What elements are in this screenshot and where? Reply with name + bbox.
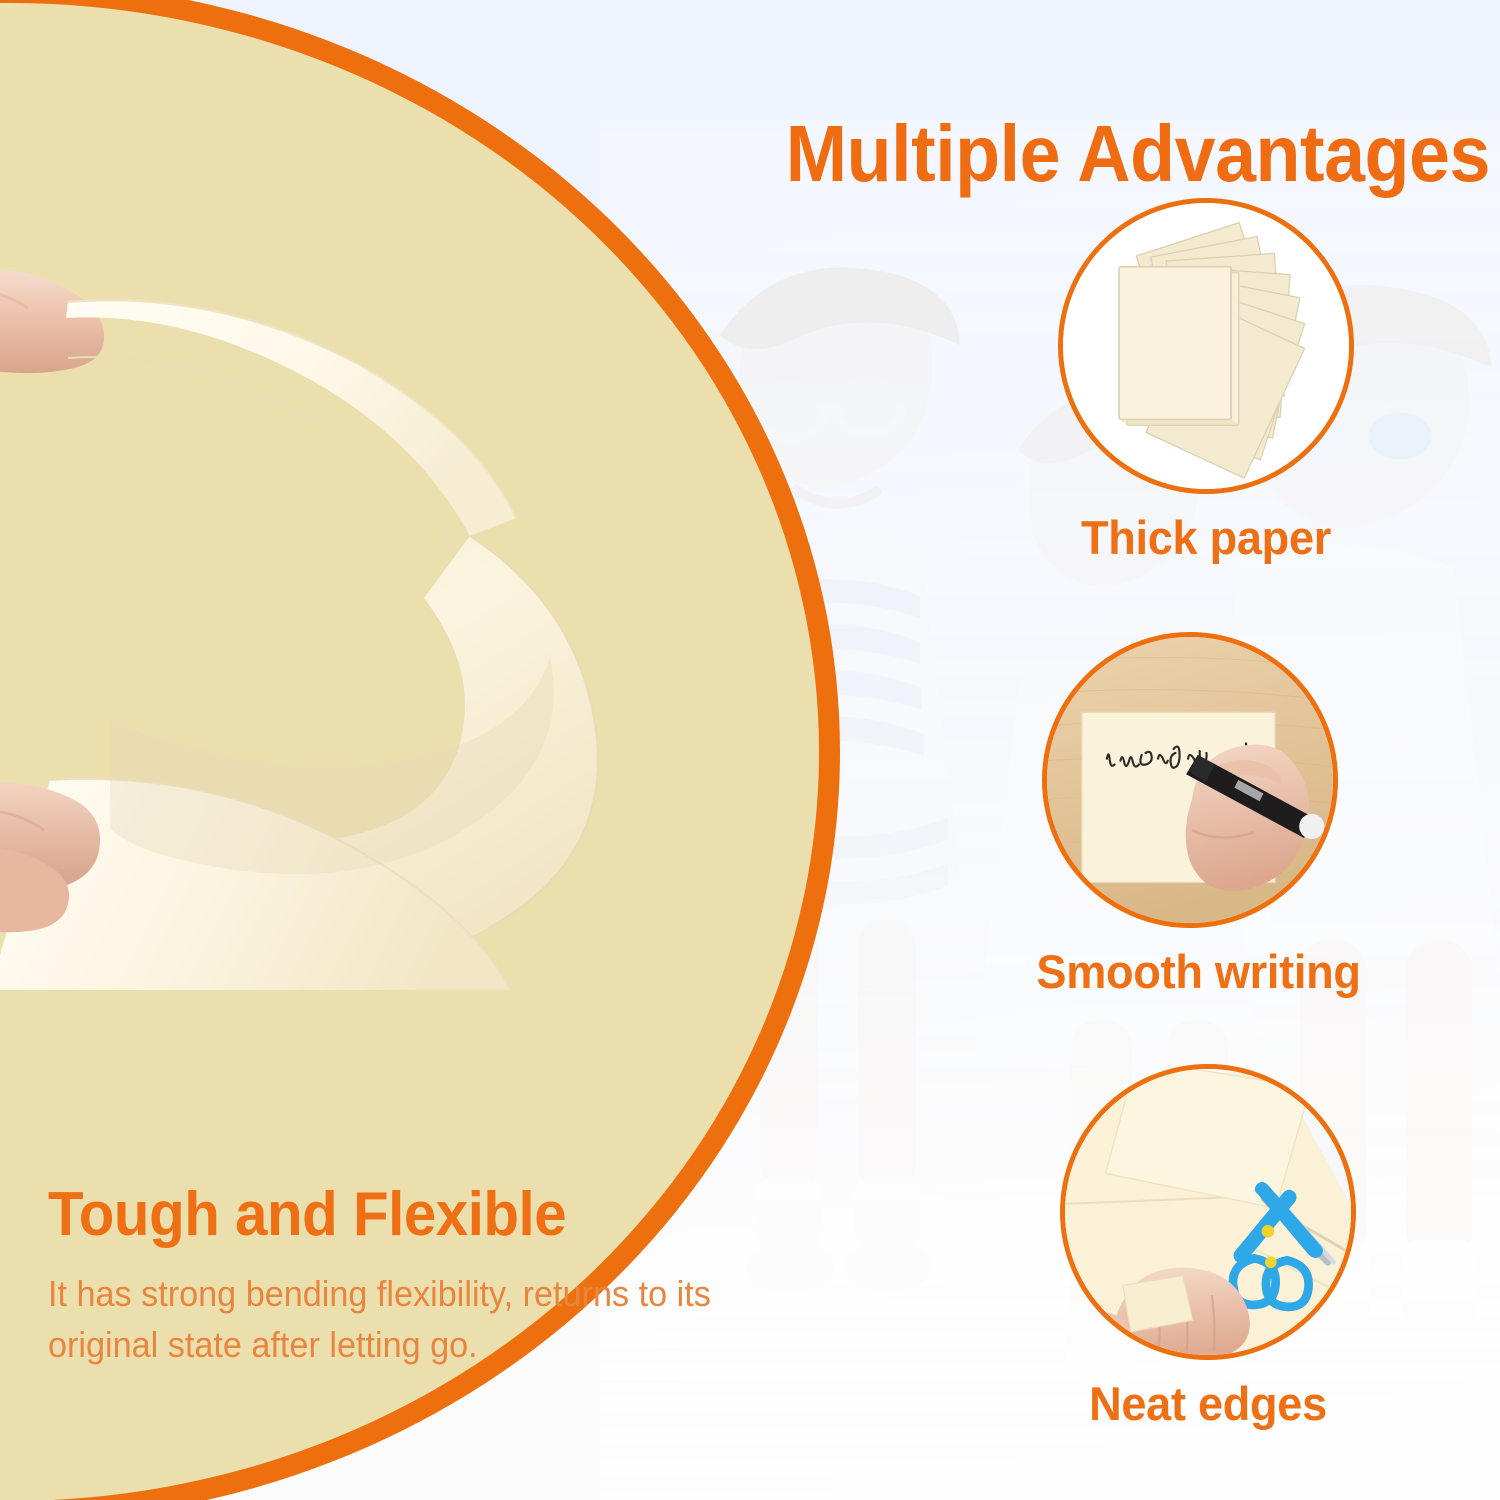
feature-thick-paper-circle xyxy=(1058,198,1354,494)
scissors-cutting-paper-icon xyxy=(1065,1069,1351,1355)
feature-neat-edges: Neat edges xyxy=(1048,1064,1368,1431)
hand-writing-with-pen-icon xyxy=(1047,637,1333,923)
feature-smooth-writing: Smooth writing xyxy=(1030,632,1350,999)
product-feature-banner: Multiple Advantages Tough and Flexible I… xyxy=(0,0,1500,1500)
feature-smooth-writing-label: Smooth writing xyxy=(1036,944,1343,999)
left-panel-heading: Tough and Flexible xyxy=(48,1179,566,1250)
stacked-paper-icon xyxy=(1063,203,1349,489)
feature-smooth-writing-circle xyxy=(1042,632,1338,928)
page-title: Multiple Advantages xyxy=(690,112,1490,195)
left-panel-body: It has strong bending flexibility, retur… xyxy=(48,1268,732,1370)
feature-neat-edges-label: Neat edges xyxy=(1054,1376,1361,1431)
feature-thick-paper-label: Thick paper xyxy=(1052,510,1359,565)
feature-neat-edges-circle xyxy=(1060,1064,1356,1360)
feature-thick-paper: Thick paper xyxy=(1046,198,1366,565)
